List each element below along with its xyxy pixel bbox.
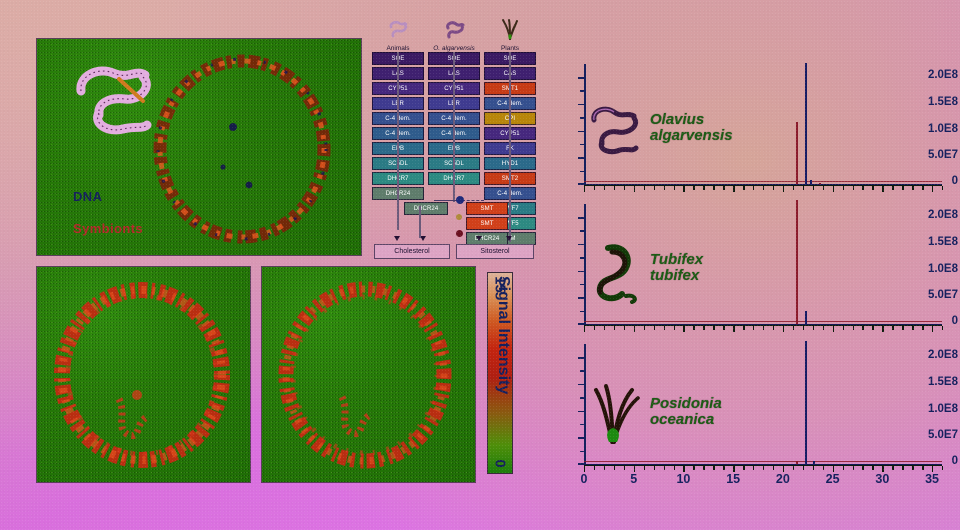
y-tick-label-1: 5.0E7 xyxy=(918,429,958,441)
microscopy-panel-overview: DNA Symbionts xyxy=(36,38,362,256)
y-minor-tick xyxy=(580,171,584,173)
x-tick-7 xyxy=(654,326,655,330)
arrow-to-cholesterol xyxy=(394,236,400,241)
y-minor-tick xyxy=(580,370,584,372)
x-tick-3 xyxy=(614,186,615,190)
x-tick-28 xyxy=(862,186,863,190)
x-tick-3 xyxy=(614,466,615,470)
x-tick-25 xyxy=(833,186,834,192)
sitosterol-trace-baseline xyxy=(584,184,942,185)
y-tick-3 xyxy=(578,104,584,106)
y-tick-1 xyxy=(578,157,584,159)
pathway-column-symbiont: O. algarvensis SQELASCYP51LBRC-4 dem.C-4… xyxy=(428,18,480,187)
x-tick-36 xyxy=(942,326,943,330)
worm-icon xyxy=(372,18,424,40)
y-tick-label-4: 2.0E8 xyxy=(918,349,958,361)
x-tick-9 xyxy=(674,186,675,190)
x-tick-15 xyxy=(733,326,734,332)
x-tick-17 xyxy=(753,466,754,470)
y-tick-label-3: 1.5E8 xyxy=(918,236,958,248)
product-cholesterol: Cholesterol xyxy=(374,244,450,259)
x-tick-19 xyxy=(773,466,774,470)
x-tick-6 xyxy=(644,326,645,330)
worm-icon xyxy=(588,242,650,309)
x-tick-21 xyxy=(793,326,794,330)
y-tick-label-1: 5.0E7 xyxy=(918,149,958,161)
y-minor-tick xyxy=(580,90,584,92)
y-tick-1 xyxy=(578,297,584,299)
sitosterol-trace-peak-1 xyxy=(813,461,815,465)
sitosterol-trace-baseline xyxy=(584,464,942,465)
x-tick-21 xyxy=(793,466,794,470)
plant-icon xyxy=(484,18,536,40)
specimen-name-1: Tubifextubifex xyxy=(650,252,703,284)
cholesterol-trace-baseline xyxy=(584,181,942,182)
x-tick-11 xyxy=(693,326,694,330)
x-tick-4 xyxy=(624,186,625,190)
y-axis xyxy=(584,204,586,326)
x-tick-5 xyxy=(634,326,635,332)
cholesterol-trace-peak-0 xyxy=(796,122,798,185)
y-minor-tick xyxy=(580,311,584,313)
y-tick-1 xyxy=(578,437,584,439)
x-tick-label-0: 0 xyxy=(581,472,588,486)
x-tick-11 xyxy=(693,466,694,470)
x-tick-20 xyxy=(783,186,784,192)
y-tick-label-2: 1.0E8 xyxy=(918,123,958,135)
chromatogram-plot-0: 05.0E71.0E81.5E82.0E8Olaviusalgarvensis xyxy=(540,58,958,198)
x-tick-18 xyxy=(763,186,764,190)
sitosterol-trace-baseline xyxy=(584,324,942,325)
microscopy-panel-section-1 xyxy=(36,266,251,483)
x-tick-17 xyxy=(753,186,754,190)
chromatogram-plot-2: 05.0E71.0E81.5E82.0E805101520253035Posid… xyxy=(540,338,958,478)
x-tick-30 xyxy=(882,326,883,332)
x-tick-12 xyxy=(703,466,704,470)
x-tick-25 xyxy=(833,326,834,332)
x-tick-label-6: 30 xyxy=(875,472,889,486)
x-tick-4 xyxy=(624,466,625,470)
branch-connector-dashed xyxy=(462,200,484,201)
x-tick-27 xyxy=(853,326,854,330)
x-tick-0 xyxy=(584,326,585,332)
x-tick-12 xyxy=(703,326,704,330)
y-axis xyxy=(584,344,586,466)
x-tick-21 xyxy=(793,186,794,190)
x-tick-13 xyxy=(713,326,714,330)
sitosterol-trace-peak-1 xyxy=(810,180,812,185)
x-tick-24 xyxy=(823,466,824,470)
x-tick-2 xyxy=(604,326,605,330)
arrow-to-cholesterol-branch xyxy=(420,236,426,241)
x-tick-23 xyxy=(813,466,814,470)
x-tick-14 xyxy=(723,326,724,330)
x-tick-7 xyxy=(654,466,655,470)
x-tick-label-7: 35 xyxy=(925,472,939,486)
x-tick-9 xyxy=(674,466,675,470)
y-minor-tick xyxy=(580,451,584,453)
x-tick-15 xyxy=(733,186,734,192)
arrow-to-sitosterol-plants xyxy=(506,236,512,241)
sitosterol-trace-peak-0 xyxy=(805,311,807,325)
chromatogram-charts: 05.0E71.0E81.5E82.0E8Olaviusalgarvensis0… xyxy=(540,58,958,490)
product-sitosterol: Sitosterol xyxy=(456,244,534,259)
pathway-stem xyxy=(453,52,455,202)
x-tick-4 xyxy=(624,326,625,330)
x-tick-20 xyxy=(783,326,784,332)
x-tick-10 xyxy=(683,186,684,192)
y-minor-tick xyxy=(580,230,584,232)
x-tick-33 xyxy=(912,466,913,470)
pathway-stem xyxy=(509,52,511,242)
y-tick-label-3: 1.5E8 xyxy=(918,376,958,388)
x-tick-2 xyxy=(604,186,605,190)
x-tick-13 xyxy=(713,186,714,190)
x-tick-31 xyxy=(892,326,893,330)
sterol-biosynthesis-pathway: Animals SQELASCYP51LBRC-4 dem.C-4 dem.EP… xyxy=(372,18,536,258)
x-tick-8 xyxy=(664,466,665,470)
branch-node-dark xyxy=(456,230,463,237)
x-tick-13 xyxy=(713,466,714,470)
cholesterol-trace-baseline xyxy=(584,321,942,322)
x-tick-11 xyxy=(693,186,694,190)
x-tick-16 xyxy=(743,466,744,470)
specimen-name-2: Posidoniaoceanica xyxy=(650,396,722,428)
x-tick-35 xyxy=(932,326,933,332)
x-tick-14 xyxy=(723,186,724,190)
x-tick-36 xyxy=(942,186,943,190)
x-tick-18 xyxy=(763,326,764,330)
plant-icon xyxy=(592,382,646,449)
y-tick-label-1: 5.0E7 xyxy=(918,289,958,301)
pathway-column-animals: Animals SQELASCYP51LBRC-4 dem.C-4 dem.EP… xyxy=(372,18,424,202)
x-tick-32 xyxy=(902,186,903,190)
x-tick-26 xyxy=(843,326,844,330)
branch-vertical xyxy=(419,206,421,238)
x-tick-16 xyxy=(743,326,744,330)
x-tick-6 xyxy=(644,466,645,470)
column-label: Animals xyxy=(372,45,424,52)
x-tick-14 xyxy=(723,466,724,470)
x-tick-26 xyxy=(843,186,844,190)
x-tick-34 xyxy=(922,466,923,470)
x-tick-19 xyxy=(773,186,774,190)
symbiont-icon xyxy=(428,18,480,40)
x-tick-29 xyxy=(872,326,873,330)
symbiont-ring-overlay xyxy=(37,267,251,483)
cholesterol-trace-baseline xyxy=(584,461,942,462)
x-tick-7 xyxy=(654,186,655,190)
x-tick-22 xyxy=(803,326,804,330)
x-tick-label-4: 20 xyxy=(776,472,790,486)
y-minor-tick xyxy=(580,117,584,119)
x-tick-30 xyxy=(882,186,883,192)
x-tick-label-5: 25 xyxy=(826,472,840,486)
x-tick-28 xyxy=(862,326,863,330)
y-minor-tick xyxy=(580,284,584,286)
x-tick-23 xyxy=(813,186,814,190)
x-tick-22 xyxy=(803,186,804,190)
x-tick-24 xyxy=(823,186,824,190)
x-tick-0 xyxy=(584,186,585,192)
colorbar-title: Signal Intensity xyxy=(494,276,512,476)
symbiont-ring-overlay xyxy=(262,267,476,483)
branch-gene-box-2: SMT xyxy=(466,217,508,230)
x-tick-32 xyxy=(902,326,903,330)
x-tick-35 xyxy=(932,186,933,192)
x-tick-16 xyxy=(743,186,744,190)
x-tick-34 xyxy=(922,186,923,190)
x-tick-8 xyxy=(664,326,665,330)
x-tick-label-2: 10 xyxy=(676,472,690,486)
x-tick-3 xyxy=(614,326,615,330)
x-tick-9 xyxy=(674,326,675,330)
x-tick-1 xyxy=(594,186,595,190)
x-tick-5 xyxy=(634,186,635,192)
x-tick-33 xyxy=(912,186,913,190)
x-tick-29 xyxy=(872,186,873,190)
column-header-plants: Plants xyxy=(484,18,536,52)
x-tick-8 xyxy=(664,186,665,190)
column-header-animals: Animals xyxy=(372,18,424,52)
microscopy-panel-section-2 xyxy=(261,266,476,483)
y-tick-4 xyxy=(578,77,584,79)
x-tick-28 xyxy=(862,466,863,470)
x-tick-23 xyxy=(813,326,814,330)
branch-node-gold xyxy=(456,214,462,220)
y-minor-tick xyxy=(580,144,584,146)
x-tick-22 xyxy=(803,466,804,470)
branch-node-blue xyxy=(456,196,464,204)
worm-icon xyxy=(588,104,646,161)
x-tick-33 xyxy=(912,326,913,330)
specimen-name-0: Olaviusalgarvensis xyxy=(650,112,733,144)
x-tick-10 xyxy=(683,326,684,332)
y-minor-tick xyxy=(580,424,584,426)
x-tick-36 xyxy=(942,466,943,470)
x-tick-17 xyxy=(753,326,754,330)
y-tick-label-4: 2.0E8 xyxy=(918,209,958,221)
x-tick-label-3: 15 xyxy=(726,472,740,486)
y-tick-3 xyxy=(578,384,584,386)
pathway-stem xyxy=(397,52,399,230)
x-tick-27 xyxy=(853,466,854,470)
sitosterol-trace-peak-0 xyxy=(805,63,807,185)
cholesterol-trace-peak-0 xyxy=(796,200,798,325)
column-header-symbiont: O. algarvensis xyxy=(428,18,480,52)
x-tick-1 xyxy=(594,466,595,470)
x-tick-27 xyxy=(853,186,854,190)
branch-gene-box-0: DHCR24 xyxy=(404,202,448,215)
x-tick-26 xyxy=(843,466,844,470)
x-tick-31 xyxy=(892,186,893,190)
x-tick-31 xyxy=(892,466,893,470)
worm-icon xyxy=(73,61,165,144)
x-tick-1 xyxy=(594,326,595,330)
y-tick-2 xyxy=(578,131,584,133)
y-tick-label-3: 1.5E8 xyxy=(918,96,958,108)
y-axis xyxy=(584,64,586,186)
chromatogram-plot-1: 05.0E71.0E81.5E82.0E8Tubifextubifex xyxy=(540,198,958,338)
x-tick-2 xyxy=(604,466,605,470)
y-tick-4 xyxy=(578,217,584,219)
x-tick-19 xyxy=(773,326,774,330)
x-tick-34 xyxy=(922,326,923,330)
y-tick-label-2: 1.0E8 xyxy=(918,263,958,275)
x-tick-29 xyxy=(872,466,873,470)
branch-gene-box-1: SMT xyxy=(466,202,508,215)
x-tick-12 xyxy=(703,186,704,190)
x-tick-32 xyxy=(902,466,903,470)
x-tick-18 xyxy=(763,466,764,470)
arrow-to-sitosterol-smt xyxy=(476,236,482,241)
y-tick-4 xyxy=(578,357,584,359)
x-tick-6 xyxy=(644,186,645,190)
label-dna: DNA xyxy=(73,189,102,204)
x-tick-label-1: 5 xyxy=(630,472,637,486)
y-tick-2 xyxy=(578,271,584,273)
sitosterol-trace-peak-0 xyxy=(805,341,807,465)
y-minor-tick xyxy=(580,257,584,259)
column-label: O. algarvensis xyxy=(428,45,480,52)
y-tick-label-2: 1.0E8 xyxy=(918,403,958,415)
x-tick-24 xyxy=(823,326,824,330)
y-tick-2 xyxy=(578,411,584,413)
y-tick-label-4: 2.0E8 xyxy=(918,69,958,81)
y-tick-3 xyxy=(578,244,584,246)
column-label: Plants xyxy=(484,45,536,52)
label-symbionts: Symbionts xyxy=(73,221,143,236)
y-minor-tick xyxy=(580,397,584,399)
